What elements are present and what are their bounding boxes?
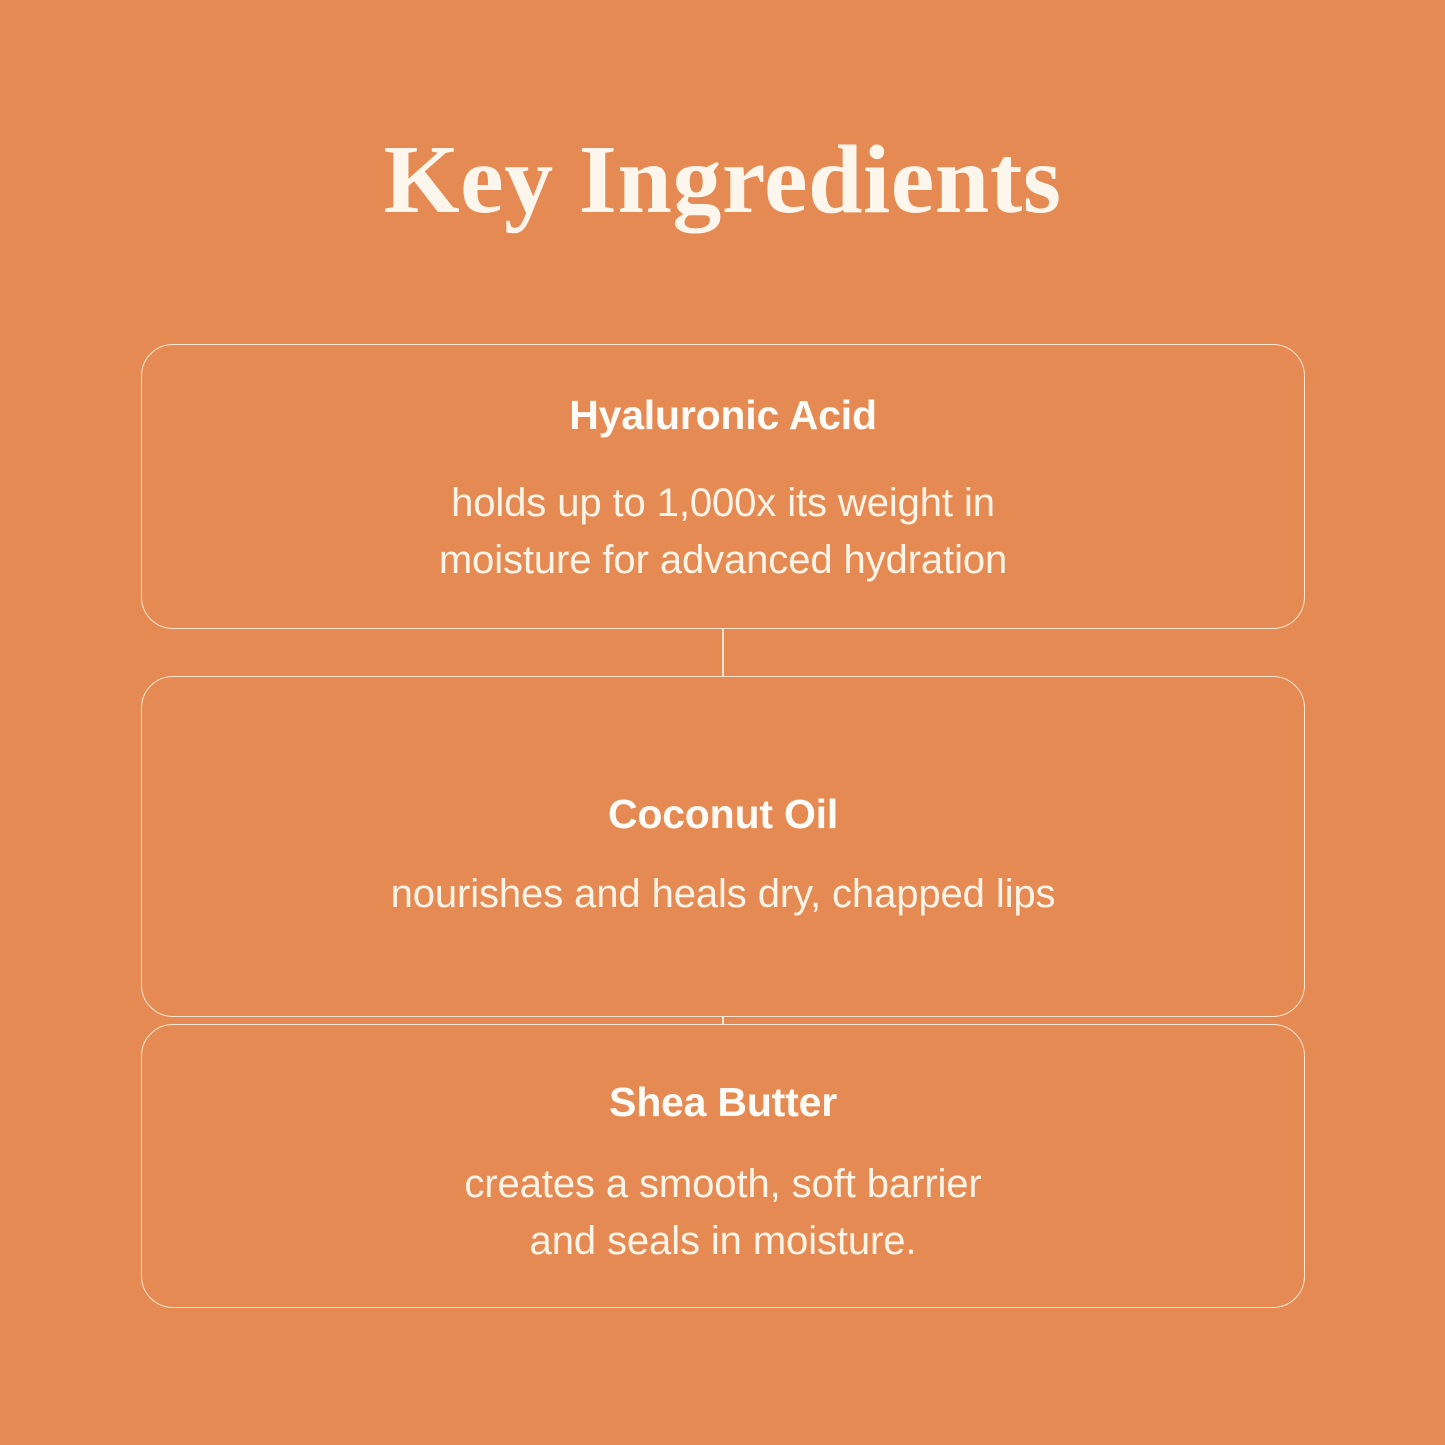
page-title: Key Ingredients xyxy=(0,128,1445,234)
ingredient-heading: Hyaluronic Acid xyxy=(569,392,877,439)
card-gap-2 xyxy=(141,1017,1305,1024)
connector-line-icon xyxy=(722,1017,724,1024)
ingredient-description: creates a smooth, soft barrier and seals… xyxy=(464,1156,981,1270)
connector-line-icon xyxy=(722,629,724,676)
ingredient-description: holds up to 1,000x its weight in moistur… xyxy=(439,475,1007,589)
ingredient-card-coconut-oil[interactable]: Coconut Oil nourishes and heals dry, cha… xyxy=(141,676,1305,1017)
card-gap-1 xyxy=(141,629,1305,676)
key-ingredients-poster: Key Ingredients Hyaluronic Acid holds up… xyxy=(0,0,1445,1445)
ingredient-heading: Shea Butter xyxy=(609,1079,837,1126)
ingredient-heading: Coconut Oil xyxy=(608,791,838,838)
ingredient-card-hyaluronic-acid[interactable]: Hyaluronic Acid holds up to 1,000x its w… xyxy=(141,344,1305,629)
ingredient-card-stack: Hyaluronic Acid holds up to 1,000x its w… xyxy=(141,344,1305,1308)
ingredient-description: nourishes and heals dry, chapped lips xyxy=(391,866,1056,923)
ingredient-card-shea-butter[interactable]: Shea Butter creates a smooth, soft barri… xyxy=(141,1024,1305,1308)
